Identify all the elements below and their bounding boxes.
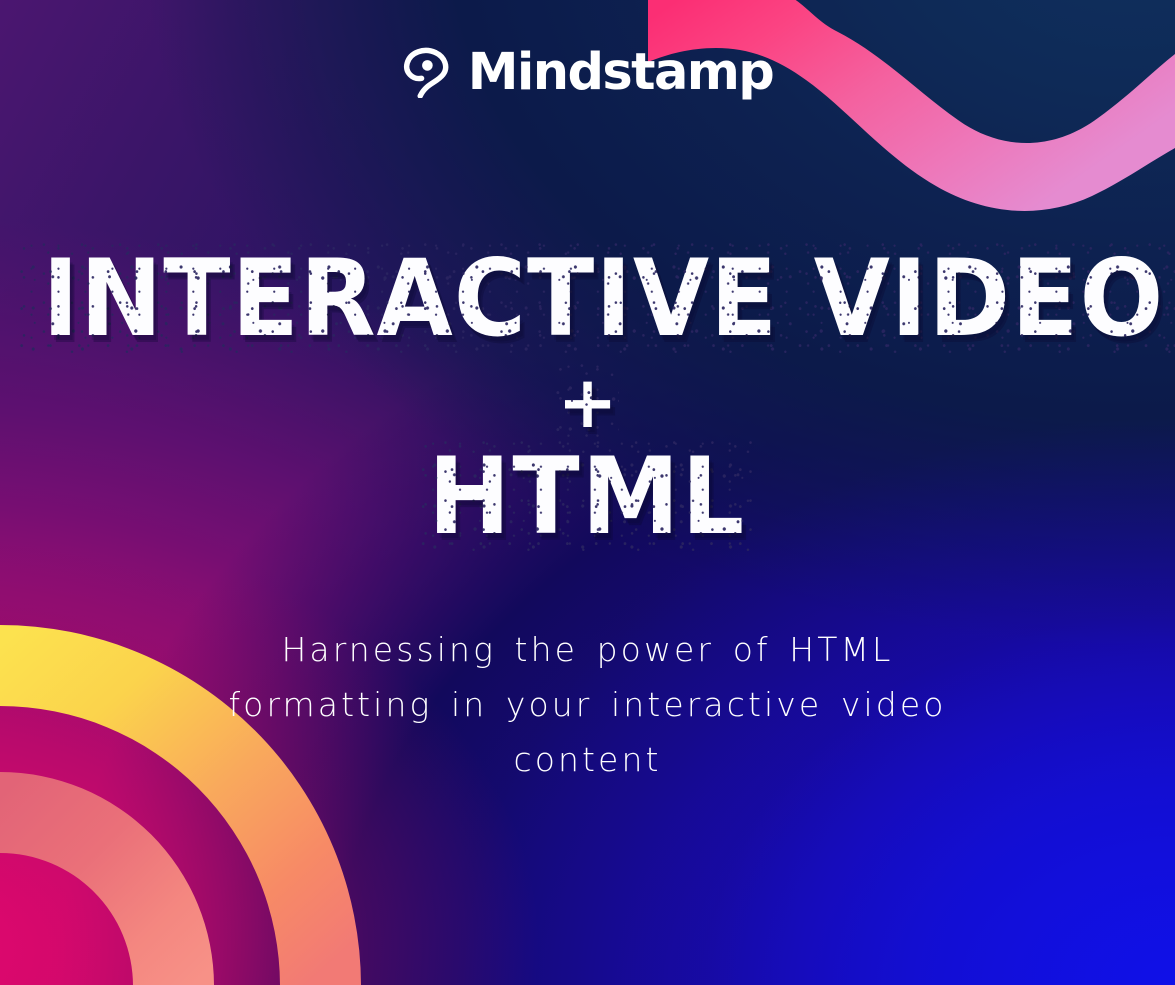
brand-logo[interactable]: Mindstamp xyxy=(0,44,1175,98)
mindstamp-spiral-mark-icon xyxy=(402,44,454,98)
headline-line1: INTERACTIVE VIDEO xyxy=(42,246,1164,352)
headline-plus-sign: + xyxy=(557,366,617,438)
poster-canvas: Mindstamp INTERACTIVE VIDEO + HTML Harne… xyxy=(0,0,1175,985)
headline-line1-row: INTERACTIVE VIDEO xyxy=(0,246,1175,352)
headline-line2-row: HTML xyxy=(0,444,1175,550)
headline-connector-row: + xyxy=(0,366,1175,438)
subtitle-text: Harnessing the power of HTML formatting … xyxy=(178,622,998,787)
headline-line2: HTML xyxy=(428,444,746,550)
headline-block: INTERACTIVE VIDEO + HTML xyxy=(0,246,1175,550)
brand-wordmark: Mindstamp xyxy=(468,47,773,98)
